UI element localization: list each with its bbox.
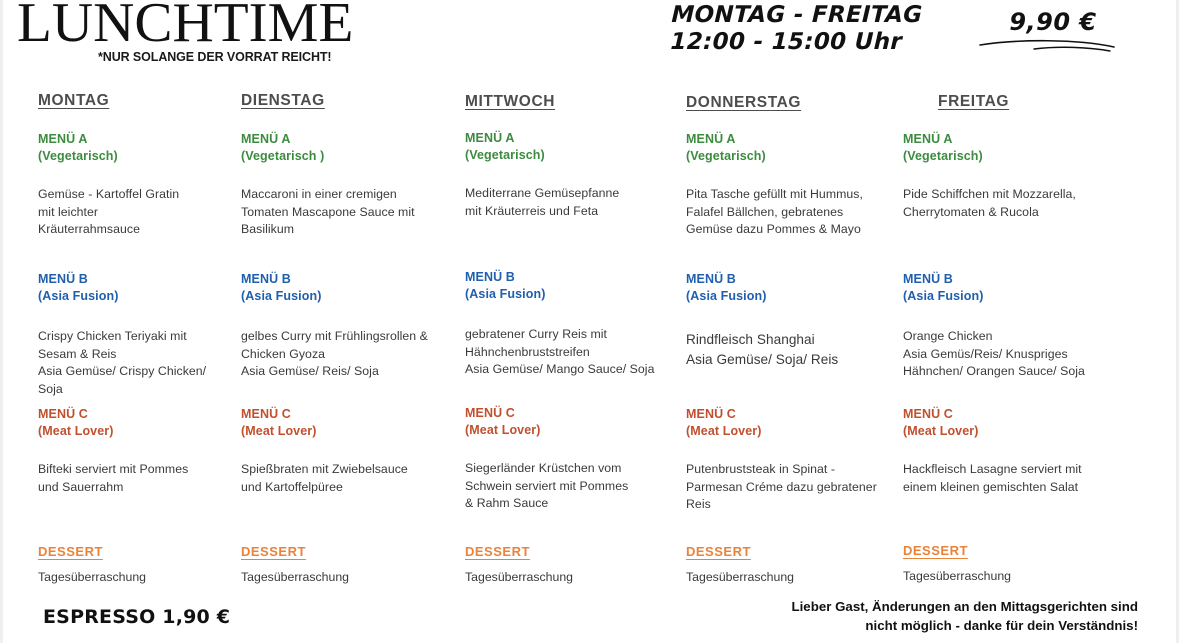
guest-notice: Lieber Gast, Änderungen an den Mittagsge… xyxy=(718,597,1138,635)
menu-c-title: MENÜ C (Meat Lover) xyxy=(465,405,670,438)
menu-c-description: Spießbraten mit Zwiebelsauce und Kartoff… xyxy=(241,461,451,496)
menu-b-label: MENÜ B xyxy=(38,272,88,286)
menu-a-description: Maccaroni in einer cremigen Tomaten Masc… xyxy=(241,186,451,239)
menu-b-block-montag: MENÜ B (Asia Fusion) Crispy Chicken Teri… xyxy=(38,271,234,398)
menu-b-subtitle: (Asia Fusion) xyxy=(38,288,234,305)
dessert-block-montag: DESSERT Tagesüberraschung xyxy=(38,544,234,586)
dessert-title: DESSERT xyxy=(38,544,234,559)
menu-c-subtitle: (Meat Lover) xyxy=(686,423,890,440)
menu-a-title: MENÜ A (Vegetarisch) xyxy=(686,131,884,164)
menu-a-title: MENÜ A (Vegetarisch) xyxy=(903,131,1108,164)
dessert-block-freitag: DESSERT Tagesüberraschung xyxy=(903,543,1108,585)
menu-c-title: MENÜ C (Meat Lover) xyxy=(903,406,1108,439)
dessert-title: DESSERT xyxy=(903,543,1108,558)
menu-a-label: MENÜ A xyxy=(686,132,735,146)
guest-notice-line-2: nicht möglich - danke für dein Verständn… xyxy=(718,616,1138,635)
menu-c-description: Hackfleisch Lasagne serviert mit einem k… xyxy=(903,461,1108,496)
dessert-description: Tagesüberraschung xyxy=(686,569,884,586)
day-header-dienstag: DIENSTAG xyxy=(241,92,325,110)
day-header-mittwoch: MITTWOCH xyxy=(465,93,555,111)
menu-b-title: MENÜ B (Asia Fusion) xyxy=(686,271,884,304)
menu-a-title: MENÜ A (Vegetarisch) xyxy=(38,131,234,164)
menu-b-title: MENÜ B (Asia Fusion) xyxy=(38,271,234,304)
dessert-description: Tagesüberraschung xyxy=(465,569,670,586)
menu-c-label: MENÜ C xyxy=(686,407,736,421)
menu-a-subtitle: (Vegetarisch) xyxy=(465,147,670,164)
menu-b-title: MENÜ B (Asia Fusion) xyxy=(465,269,675,302)
menu-b-subtitle: (Asia Fusion) xyxy=(465,286,675,303)
menu-b-subtitle: (Asia Fusion) xyxy=(903,288,1108,305)
menu-c-block-freitag: MENÜ C (Meat Lover) Hackfleisch Lasagne … xyxy=(903,406,1108,496)
menu-b-block-donnerstag: MENÜ B (Asia Fusion) Rindfleisch Shangha… xyxy=(686,271,884,370)
espresso-price: ESPRESSO 1,90 € xyxy=(43,606,230,628)
menu-a-block-donnerstag: MENÜ A (Vegetarisch) Pita Tasche gefüllt… xyxy=(686,131,884,239)
menu-a-label: MENÜ A xyxy=(465,131,514,145)
menu-a-subtitle: (Vegetarisch) xyxy=(38,148,234,165)
day-header-donnerstag: DONNERSTAG xyxy=(686,94,801,112)
menu-b-block-dienstag: MENÜ B (Asia Fusion) gelbes Curry mit Fr… xyxy=(241,271,456,381)
menu-b-subtitle: (Asia Fusion) xyxy=(686,288,884,305)
menu-a-subtitle: (Vegetarisch ) xyxy=(241,148,451,165)
menu-c-block-mittwoch: MENÜ C (Meat Lover) Siegerländer Krüstch… xyxy=(465,405,670,513)
menu-b-title: MENÜ B (Asia Fusion) xyxy=(241,271,456,304)
menu-b-block-mittwoch: MENÜ B (Asia Fusion) gebratener Curry Re… xyxy=(465,269,675,379)
menu-b-description: Orange Chicken Asia Gemüs/Reis/ Knusprig… xyxy=(903,328,1108,381)
menu-c-subtitle: (Meat Lover) xyxy=(465,422,670,439)
menu-c-title: MENÜ C (Meat Lover) xyxy=(38,406,234,439)
dessert-description: Tagesüberraschung xyxy=(903,568,1108,585)
menu-a-block-dienstag: MENÜ A (Vegetarisch ) Maccaroni in einer… xyxy=(241,131,451,239)
menu-c-label: MENÜ C xyxy=(241,407,291,421)
menu-c-subtitle: (Meat Lover) xyxy=(241,423,451,440)
menu-c-label: MENÜ C xyxy=(903,407,953,421)
menu-b-description: gelbes Curry mit Frühlingsrollen & Chick… xyxy=(241,328,456,381)
menu-a-label: MENÜ A xyxy=(241,132,290,146)
guest-notice-line-1: Lieber Gast, Änderungen an den Mittagsge… xyxy=(718,597,1138,616)
menu-a-title: MENÜ A (Vegetarisch ) xyxy=(241,131,451,164)
menu-a-block-freitag: MENÜ A (Vegetarisch) Pide Schiffchen mit… xyxy=(903,131,1108,221)
menu-c-title: MENÜ C (Meat Lover) xyxy=(241,406,451,439)
dessert-block-mittwoch: DESSERT Tagesüberraschung xyxy=(465,544,670,586)
menu-a-description: Mediterrane Gemüsepfanne mit Kräuterreis… xyxy=(465,185,670,220)
dessert-title: DESSERT xyxy=(686,544,884,559)
menu-board: LUNCHTIME *NUR SOLANGE DER VORRAT REICHT… xyxy=(0,0,1179,643)
menu-a-subtitle: (Vegetarisch) xyxy=(686,148,884,165)
menu-c-label: MENÜ C xyxy=(465,406,515,420)
menu-b-description: Crispy Chicken Teriyaki mit Sesam & Reis… xyxy=(38,328,234,398)
menu-b-block-freitag: MENÜ B (Asia Fusion) Orange Chicken Asia… xyxy=(903,271,1108,381)
menu-a-title: MENÜ A (Vegetarisch) xyxy=(465,130,670,163)
menu-c-description: Putenbruststeak in Spinat - Parmesan Cré… xyxy=(686,461,890,514)
menu-c-block-donnerstag: MENÜ C (Meat Lover) Putenbruststeak in S… xyxy=(686,406,890,514)
dessert-block-donnerstag: DESSERT Tagesüberraschung xyxy=(686,544,884,586)
menu-c-description: Siegerländer Krüstchen vom Schwein servi… xyxy=(465,460,670,513)
menu-c-block-dienstag: MENÜ C (Meat Lover) Spießbraten mit Zwie… xyxy=(241,406,451,496)
menu-c-subtitle: (Meat Lover) xyxy=(38,423,234,440)
menu-c-title: MENÜ C (Meat Lover) xyxy=(686,406,890,439)
menu-c-label: MENÜ C xyxy=(38,407,88,421)
day-header-freitag: FREITAG xyxy=(938,93,1009,111)
dessert-block-dienstag: DESSERT Tagesüberraschung xyxy=(241,544,451,586)
menu-b-title: MENÜ B (Asia Fusion) xyxy=(903,271,1108,304)
menu-b-label: MENÜ B xyxy=(903,272,953,286)
dessert-title: DESSERT xyxy=(241,544,451,559)
menu-a-label: MENÜ A xyxy=(903,132,952,146)
menu-a-description: Gemüse - Kartoffel Gratin mit leichter K… xyxy=(38,186,234,239)
menu-a-description: Pide Schiffchen mit Mozzarella, Cherryto… xyxy=(903,186,1108,221)
menu-a-description: Pita Tasche gefüllt mit Hummus, Falafel … xyxy=(686,186,884,239)
menu-a-block-montag: MENÜ A (Vegetarisch) Gemüse - Kartoffel … xyxy=(38,131,234,239)
menu-c-block-montag: MENÜ C (Meat Lover) Bifteki serviert mit… xyxy=(38,406,234,496)
menu-b-label: MENÜ B xyxy=(241,272,291,286)
menu-b-subtitle: (Asia Fusion) xyxy=(241,288,456,305)
dessert-description: Tagesüberraschung xyxy=(241,569,451,586)
menu-a-label: MENÜ A xyxy=(38,132,87,146)
menu-a-subtitle: (Vegetarisch) xyxy=(903,148,1108,165)
menu-b-description: Rindfleisch Shanghai Asia Gemüse/ Soja/ … xyxy=(686,330,884,370)
menu-a-block-mittwoch: MENÜ A (Vegetarisch) Mediterrane Gemüsep… xyxy=(465,130,670,220)
menu-c-description: Bifteki serviert mit Pommes und Sauerrah… xyxy=(38,461,234,496)
menu-b-label: MENÜ B xyxy=(465,270,515,284)
menu-b-description: gebratener Curry Reis mit Hähnchenbrusts… xyxy=(465,326,675,379)
dessert-description: Tagesüberraschung xyxy=(38,569,234,586)
menu-b-label: MENÜ B xyxy=(686,272,736,286)
day-header-montag: MONTAG xyxy=(38,92,109,110)
menu-c-subtitle: (Meat Lover) xyxy=(903,423,1108,440)
menu-grid: MONTAG MENÜ A (Vegetarisch) Gemüse - Kar… xyxy=(3,0,1179,643)
dessert-title: DESSERT xyxy=(465,544,670,559)
